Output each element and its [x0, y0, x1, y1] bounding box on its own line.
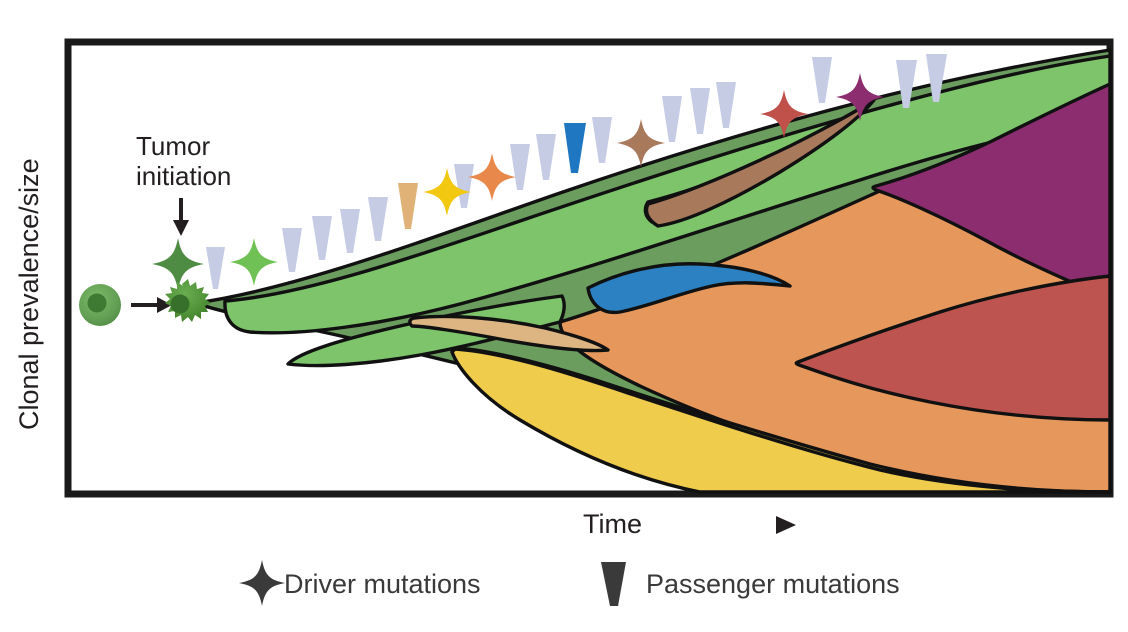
x-axis-arrow-icon: [666, 516, 796, 534]
legend-label-driver-mutations: Driver mutations: [284, 569, 481, 599]
tumor-initiation-label-line2: initiation: [136, 161, 231, 191]
figure-canvas: Tumor initiation Clonal prevalence/size …: [0, 0, 1128, 632]
x-axis-label: Time: [583, 509, 642, 539]
y-axis-label: Clonal prevalence/size: [14, 158, 44, 430]
legend: Driver mutations Passenger mutations: [239, 560, 900, 606]
tumor-initiation-label-line1: Tumor: [136, 131, 210, 161]
legend-label-passenger-mutations: Passenger mutations: [646, 569, 900, 599]
legend-four-point-star-icon: [239, 560, 285, 606]
clonal-evolution-figure: Tumor initiation Clonal prevalence/size …: [0, 0, 1128, 632]
normal-cell-nucleus: [88, 294, 107, 313]
legend-inverted-triangle-icon: [601, 562, 626, 606]
